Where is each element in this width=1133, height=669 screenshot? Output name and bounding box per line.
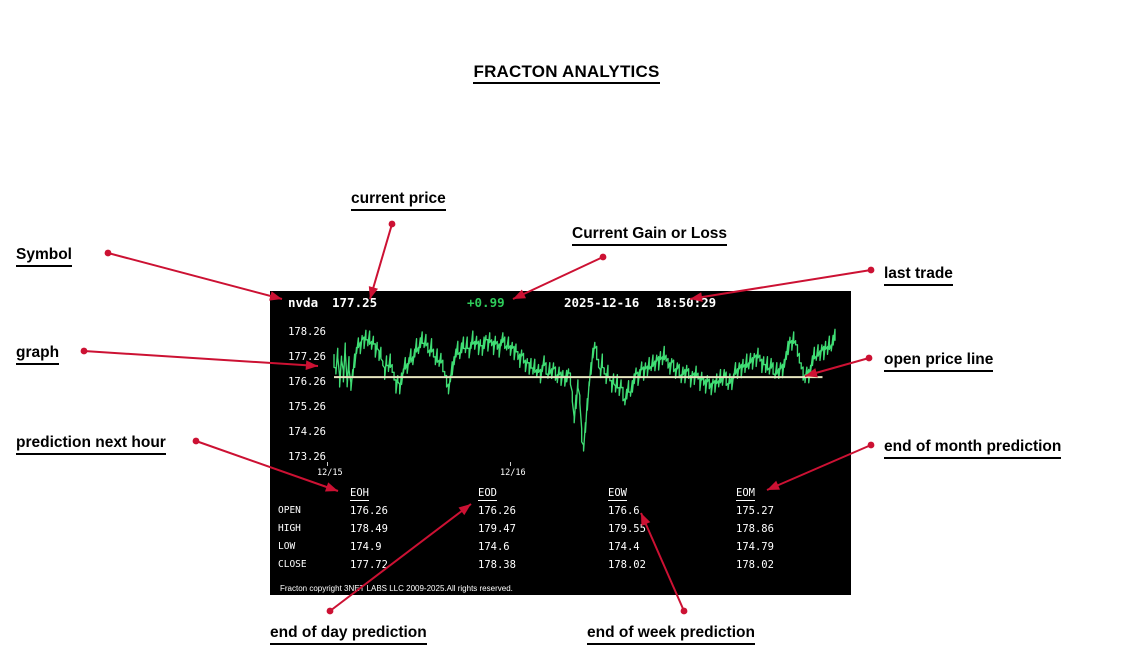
chart-x-tick-mark — [327, 462, 328, 466]
chart-y-tick: 173.26 — [288, 452, 326, 463]
prediction-cell: 178.86 — [736, 523, 774, 535]
chart-x-tick: 12/15 — [317, 469, 343, 478]
prediction-cell: 174.79 — [736, 541, 774, 553]
prediction-cell: 176.26 — [478, 505, 516, 517]
current-price-value: 177.25 — [332, 295, 377, 310]
annotation-dot-pred-day — [327, 608, 334, 615]
copyright-footer: Fracton copyright 3NET LABS LLC 2009-202… — [280, 584, 513, 593]
prediction-cell: 179.55 — [608, 523, 646, 535]
page-title: FRACTON ANALYTICS — [0, 62, 1133, 82]
prediction-cell: 178.38 — [478, 559, 516, 571]
price-line — [334, 329, 835, 451]
annotation-label-text: Current Gain or Loss — [572, 225, 727, 246]
annotation-label-text: current price — [351, 190, 446, 211]
prediction-cell: 175.27 — [736, 505, 774, 517]
annotation-dot-current-price — [389, 221, 396, 228]
chart-y-tick: 175.26 — [288, 402, 326, 413]
prediction-column-header-eow: EOW — [608, 487, 627, 501]
chart-y-tick: 177.26 — [288, 352, 326, 363]
prediction-cell: 179.47 — [478, 523, 516, 535]
annotation-dot-graph — [81, 348, 88, 355]
annotation-label-text: Symbol — [16, 246, 72, 267]
annotation-dot-pred-hour — [193, 438, 200, 445]
prediction-row-label: CLOSE — [278, 559, 307, 570]
annotation-dot-open-line — [866, 355, 873, 362]
prediction-cell: 174.9 — [350, 541, 382, 553]
prediction-cell: 178.02 — [608, 559, 646, 571]
price-chart-svg — [332, 313, 851, 467]
annotation-dot-symbol — [105, 250, 112, 257]
annotation-label-open-line: open price line — [884, 352, 993, 368]
current-gain-loss-value: +0.99 — [467, 295, 505, 310]
chart-x-tick: 12/16 — [500, 469, 526, 478]
annotation-dot-gain-loss — [600, 254, 607, 261]
chart-y-tick: 176.26 — [288, 377, 326, 388]
prediction-cell: 178.02 — [736, 559, 774, 571]
prediction-cell: 178.49 — [350, 523, 388, 535]
prediction-row-label: OPEN — [278, 505, 301, 516]
annotation-label-pred-week: end of week prediction — [587, 625, 755, 641]
prediction-cell: 176.26 — [350, 505, 388, 517]
annotation-label-text: last trade — [884, 265, 953, 286]
prediction-column-header-eod: EOD — [478, 487, 497, 501]
prediction-cell: 177.72 — [350, 559, 388, 571]
prediction-column-header-eoh: EOH — [350, 487, 369, 501]
prediction-row-label: HIGH — [278, 523, 301, 534]
annotation-label-current-price: current price — [351, 191, 446, 207]
annotation-label-text: prediction next hour — [16, 434, 166, 455]
annotation-dot-pred-week — [681, 608, 688, 615]
annotation-leader-line-symbol — [108, 253, 282, 299]
annotation-label-text: end of week prediction — [587, 624, 755, 645]
annotation-dot-pred-month — [868, 442, 875, 449]
page-title-text: FRACTON ANALYTICS — [473, 62, 659, 84]
annotation-label-gain-loss: Current Gain or Loss — [572, 226, 727, 242]
annotation-label-pred-month: end of month prediction — [884, 439, 1061, 455]
annotation-dot-last-trade — [868, 267, 875, 274]
chart-x-axis: 12/1512/16 — [270, 467, 851, 483]
prediction-column-header-eom: EOM — [736, 487, 755, 501]
annotation-label-text: open price line — [884, 351, 993, 372]
last-trade-time: 18:50:29 — [656, 295, 716, 310]
prediction-cell: 174.6 — [478, 541, 510, 553]
annotation-leader-line-current-price — [370, 224, 392, 299]
chart-y-tick: 178.26 — [288, 327, 326, 338]
chart-x-tick-mark — [510, 462, 511, 466]
annotation-label-graph: graph — [16, 345, 59, 361]
annotation-label-symbol: Symbol — [16, 247, 72, 263]
prediction-cell: 174.4 — [608, 541, 640, 553]
last-trade-date: 2025-12-16 — [564, 295, 639, 310]
annotation-label-pred-day: end of day prediction — [270, 625, 427, 641]
ticker-row: nvda 177.25 +0.99 2025-12-16 18:50:29 — [270, 291, 851, 313]
chart-plot-area — [332, 313, 851, 467]
ticker-symbol: nvda — [288, 295, 318, 310]
annotation-label-text: end of day prediction — [270, 624, 427, 645]
price-chart: 178.26177.26176.26175.26174.26173.26 — [270, 313, 851, 467]
fracton-terminal-panel: nvda 177.25 +0.99 2025-12-16 18:50:29 17… — [270, 291, 851, 595]
annotation-label-pred-hour: prediction next hour — [16, 435, 166, 451]
annotation-label-last-trade: last trade — [884, 266, 953, 282]
annotation-label-text: graph — [16, 344, 59, 365]
prediction-row-label: LOW — [278, 541, 295, 552]
chart-y-axis: 178.26177.26176.26175.26174.26173.26 — [270, 313, 332, 467]
prediction-cell: 176.6 — [608, 505, 640, 517]
prediction-table: OPENHIGHLOWCLOSEEOH176.26178.49174.9177.… — [270, 487, 851, 571]
chart-y-tick: 174.26 — [288, 427, 326, 438]
annotation-label-text: end of month prediction — [884, 438, 1061, 459]
